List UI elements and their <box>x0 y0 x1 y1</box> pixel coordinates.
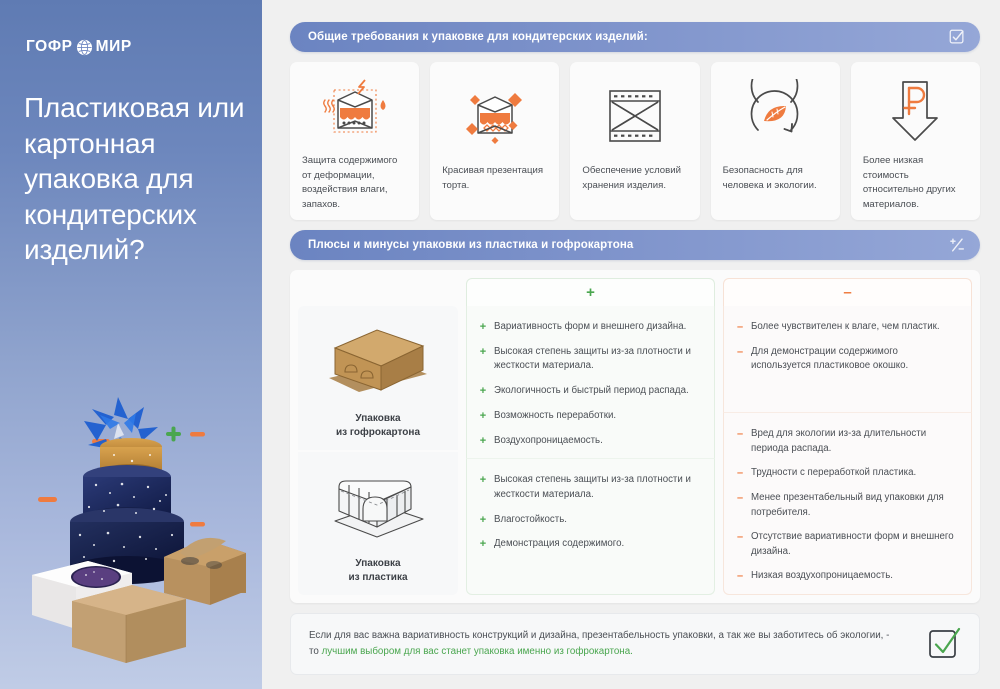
requirement-icon-wrap <box>582 74 687 158</box>
list-item: +Вариативность форм и внешнего дизайна. <box>479 320 700 335</box>
crate-storage-icon <box>598 79 672 153</box>
brand-logo[interactable]: ГОФР МИР <box>26 38 132 56</box>
list-item-text: Менее презентабельный вид упаковки для п… <box>751 491 957 520</box>
list-item: –Низкая воздухопроницаемость. <box>736 569 957 584</box>
product-label-line2: из гофрокартона <box>336 427 420 438</box>
pros-list-plastic: +Высокая степень защиты из-за плотности … <box>479 473 700 552</box>
conclusion-text-highlight: лучшим выбором для вас станет упаковка и… <box>322 646 633 657</box>
plus-marker-icon: + <box>479 537 487 552</box>
list-item-text: Для демонстрации содержимого используетс… <box>751 345 957 374</box>
product-label-line1: Упаковка <box>355 413 400 424</box>
list-item-text: Вред для экологии из-за длительности пер… <box>751 427 957 456</box>
cons-column: – –Более чувствителен к влаге, чем пласт… <box>723 278 972 595</box>
comparison-table: Упаковка из гофрокартона <box>290 270 980 603</box>
product-column: Упаковка из гофрокартона <box>298 278 458 595</box>
list-item-text: Отсутствие вариативности форм и внешнего… <box>751 530 957 559</box>
requirement-text: Безопасность для человека и экологии. <box>723 164 828 193</box>
product-cell-cardboard: Упаковка из гофрокартона <box>298 306 458 452</box>
list-item-text: Высокая степень защиты из-за плотности и… <box>494 345 700 374</box>
minus-marker-icon: – <box>736 466 744 481</box>
checkbox-checked-icon <box>948 28 966 46</box>
requirement-icon-wrap <box>302 74 407 148</box>
ruble-down-arrow-icon <box>878 74 952 148</box>
section-title: Общие требования к упаковке для кондитер… <box>308 31 648 43</box>
logo-text-left: ГОФР <box>26 38 73 56</box>
list-item-text: Возможность переработки. <box>494 409 616 424</box>
minus-marker-icon: – <box>736 427 744 442</box>
requirement-card[interactable]: Защита содержимого от деформации, воздей… <box>290 62 419 220</box>
cardboard-box-icon <box>319 316 437 402</box>
pros-column-body: +Вариативность форм и внешнего дизайна. … <box>466 306 715 595</box>
minus-marker-icon: – <box>736 345 744 360</box>
list-item-text: Демонстрация содержимого. <box>494 537 624 552</box>
pros-column-header: + <box>466 278 715 306</box>
list-item: +Влагостойкость. <box>479 513 700 528</box>
requirement-text: Обеспечение условий хранения изделия. <box>582 164 687 193</box>
requirements-row: Защита содержимого от деформации, воздей… <box>290 62 980 220</box>
list-item-text: Вариативность форм и внешнего дизайна. <box>494 320 686 335</box>
list-item: –Вред для экологии из-за длительности пе… <box>736 427 957 456</box>
list-item-text: Воздухопроницаемость. <box>494 434 603 449</box>
plastic-container-icon <box>319 461 437 547</box>
product-cell-plastic: Упаковка из пластика <box>298 452 458 596</box>
list-item-text: Трудности с переработкой пластика. <box>751 466 916 481</box>
plus-marker-icon: + <box>479 513 487 528</box>
comparison-grid: Упаковка из гофрокартона <box>298 278 972 595</box>
requirement-card[interactable]: Более низкая стоимость относительно друг… <box>851 62 980 220</box>
list-item: –Отсутствие вариативности форм и внешнег… <box>736 530 957 559</box>
section-header-requirements[interactable]: Общие требования к упаковке для кондитер… <box>290 22 980 52</box>
product-label-line2: из пластика <box>348 572 407 583</box>
conclusion-text: Если для вас важна вариативность констру… <box>309 628 899 660</box>
plus-marker-icon: + <box>479 409 487 424</box>
plus-marker-icon: + <box>479 345 487 360</box>
sidebar: ГОФР МИР Пластиковая или картонная упако… <box>0 0 262 689</box>
cons-column-body: –Более чувствителен к влаге, чем пластик… <box>723 306 972 595</box>
plus-minus-icon <box>948 236 966 254</box>
globe-icon <box>76 39 93 56</box>
minus-marker-icon: – <box>736 569 744 584</box>
plus-marker-icon: + <box>479 320 487 335</box>
cons-cell-cardboard: –Более чувствителен к влаге, чем пластик… <box>723 306 972 413</box>
recycle-leaf-icon <box>738 79 812 153</box>
list-item: +Высокая степень защиты из-за плотности … <box>479 473 700 502</box>
page-title: Пластиковая или картонная упаковка для к… <box>24 90 254 268</box>
protected-cake-box-icon <box>318 74 392 148</box>
requirement-icon-wrap <box>863 74 968 148</box>
requirement-card[interactable]: Красивая презентация торта. <box>430 62 559 220</box>
minus-marker-icon: – <box>736 320 744 335</box>
pros-cell-cardboard: +Вариативность форм и внешнего дизайна. … <box>466 306 715 459</box>
list-item-text: Экологичность и быстрый период распада. <box>494 384 689 399</box>
logo-text-right: МИР <box>96 38 132 56</box>
minus-marker-icon: – <box>736 491 744 506</box>
cons-list-cardboard: –Более чувствителен к влаге, чем пластик… <box>736 320 957 374</box>
main-content: Общие требования к упаковке для кондитер… <box>262 0 1000 689</box>
list-item: –Более чувствителен к влаге, чем пластик… <box>736 320 957 335</box>
product-column-spacer <box>298 278 458 306</box>
sparkling-cake-box-icon <box>458 79 532 153</box>
list-item: –Менее презентабельный вид упаковки для … <box>736 491 957 520</box>
list-item-text: Высокая степень защиты из-за плотности и… <box>494 473 700 502</box>
list-item-text: Низкая воздухопроницаемость. <box>751 569 893 584</box>
infographic-page: ГОФР МИР Пластиковая или картонная упако… <box>0 0 1000 689</box>
pros-column: + +Вариативность форм и внешнего дизайна… <box>466 278 715 595</box>
list-item: +Высокая степень защиты из-за плотности … <box>479 345 700 374</box>
requirement-icon-wrap <box>442 74 547 158</box>
section-title: Плюсы и минусы упаковки из пластика и го… <box>308 239 633 251</box>
list-item: +Воздухопроницаемость. <box>479 434 700 449</box>
product-label-line1: Упаковка <box>355 558 400 569</box>
pros-list-cardboard: +Вариативность форм и внешнего дизайна. … <box>479 320 700 448</box>
cake-and-boxes-illustration <box>14 389 262 679</box>
cons-cell-plastic: –Вред для экологии из-за длительности пе… <box>723 413 972 595</box>
list-item-text: Более чувствителен к влаге, чем пластик. <box>751 320 940 335</box>
plus-marker-icon: + <box>479 434 487 449</box>
list-item-text: Влагостойкость. <box>494 513 567 528</box>
section-header-pros-cons[interactable]: Плюсы и минусы упаковки из пластика и го… <box>290 230 980 260</box>
requirement-text: Красивая презентация торта. <box>442 164 547 193</box>
minus-marker-icon: – <box>736 530 744 545</box>
cons-column-header: – <box>723 278 972 306</box>
requirement-icon-wrap <box>723 74 828 158</box>
checkmark-box-icon <box>927 627 961 661</box>
list-item: –Трудности с переработкой пластика. <box>736 466 957 481</box>
requirement-card[interactable]: Обеспечение условий хранения изделия. <box>570 62 699 220</box>
pros-cell-plastic: +Высокая степень защиты из-за плотности … <box>466 459 715 595</box>
product-label: Упаковка из пластика <box>348 557 407 585</box>
product-label: Упаковка из гофрокартона <box>336 412 420 440</box>
conclusion-box: Если для вас важна вариативность констру… <box>290 613 980 675</box>
requirement-text: Более низкая стоимость относительно друг… <box>863 154 968 212</box>
plus-marker-icon: + <box>479 473 487 488</box>
list-item: –Для демонстрации содержимого использует… <box>736 345 957 374</box>
requirement-card[interactable]: Безопасность для человека и экологии. <box>711 62 840 220</box>
list-item: +Экологичность и быстрый период распада. <box>479 384 700 399</box>
cons-list-plastic: –Вред для экологии из-за длительности пе… <box>736 427 957 584</box>
requirement-text: Защита содержимого от деформации, воздей… <box>302 154 407 212</box>
list-item: +Возможность переработки. <box>479 409 700 424</box>
plus-marker-icon: + <box>479 384 487 399</box>
list-item: +Демонстрация содержимого. <box>479 537 700 552</box>
